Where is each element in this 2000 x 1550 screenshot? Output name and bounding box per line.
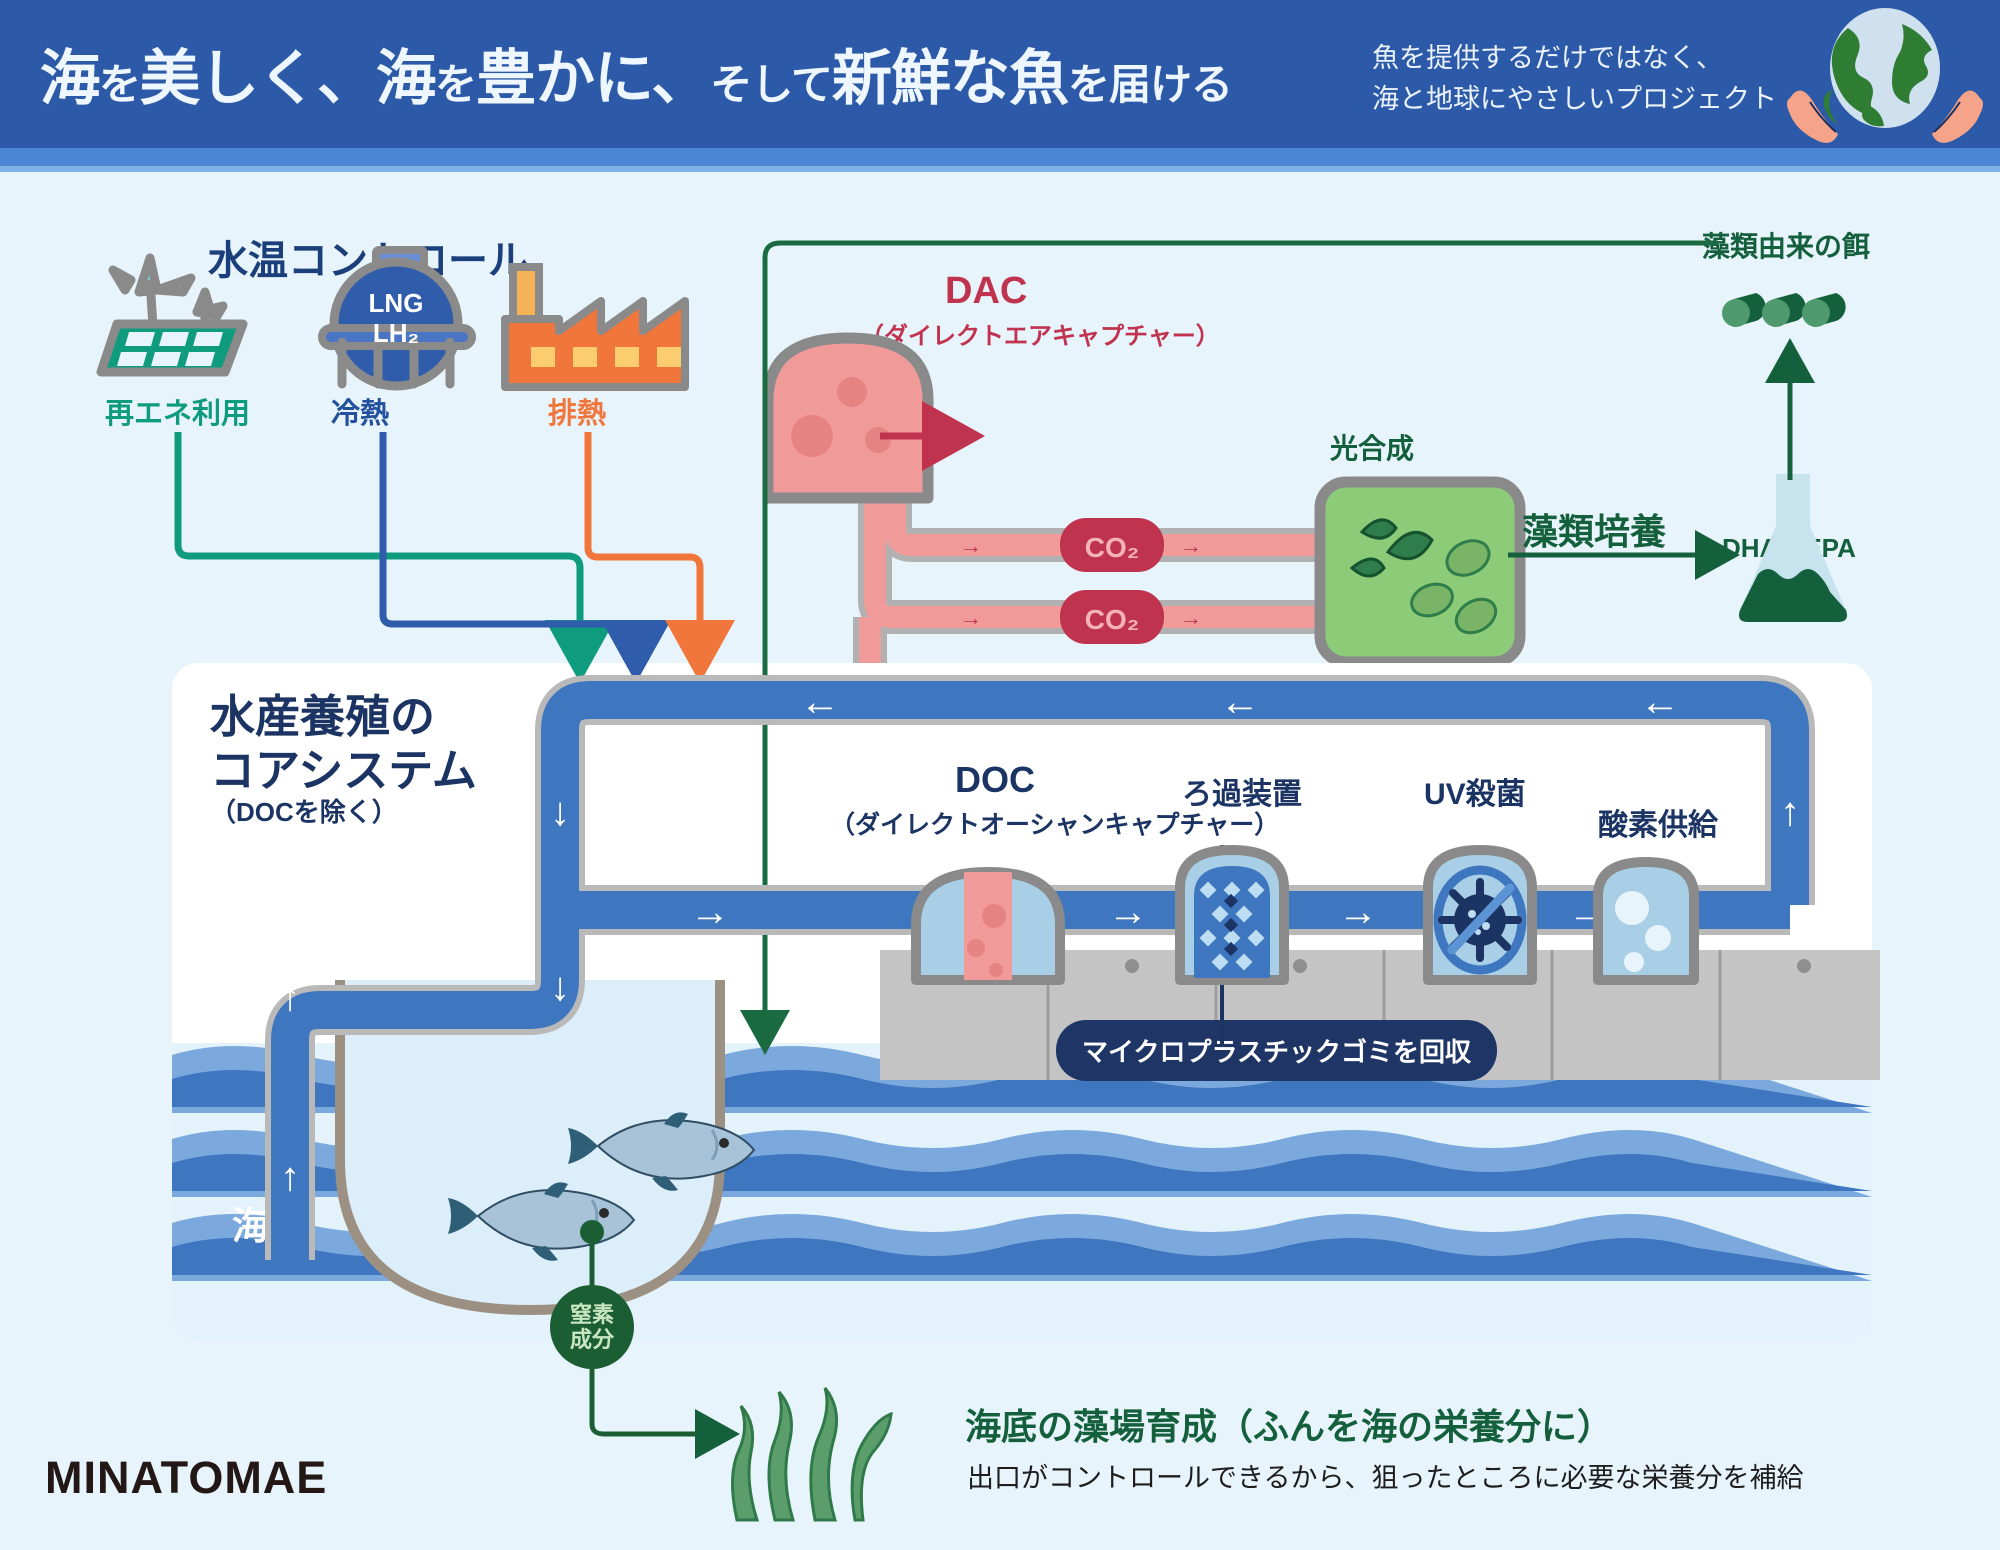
- svg-text:→: →: [960, 533, 982, 558]
- wind-turbine-solar-panel-icon: [95, 240, 285, 390]
- title-seg-3: 美しく、海: [140, 45, 435, 112]
- svg-text:LNG: LNG: [369, 288, 424, 318]
- title-seg-7: 新鮮な魚: [832, 45, 1068, 112]
- svg-text:CO₂: CO₂: [1085, 532, 1139, 563]
- svg-text:→: →: [1180, 533, 1202, 558]
- source-label-waste-heat: 排熱: [548, 390, 606, 432]
- microplastic-badge: マイクロプラスチックゴミを回収: [1056, 1020, 1497, 1081]
- filter-unit-label: ろ過装置: [1182, 769, 1302, 813]
- source-label-renewable: 再エネ利用: [105, 390, 250, 432]
- algae-cells-icon: [1320, 482, 1520, 662]
- algae-derived-feed-label: 藻類由来の餌: [1702, 225, 1870, 265]
- header-subtitle-line2: 海と地球にやさしいプロジェクト: [1372, 79, 1777, 120]
- photosynthesis-label: 光合成: [1330, 427, 1414, 467]
- bottom-description: 出口がコントロールできるから、狙ったところに必要な栄養分を補給: [967, 1456, 1803, 1495]
- header-subtitle-line1: 魚を提供するだけではなく、: [1372, 38, 1777, 79]
- infographic-canvas: 海を美しく、海を豊かに、そして新鮮な魚を届ける 魚を提供するだけではなく、 海と…: [0, 0, 2000, 1550]
- header-underline: [0, 148, 2000, 166]
- title-seg-1: 海: [40, 45, 99, 112]
- title-seg-5: 豊かに、: [476, 45, 710, 112]
- nitrogen-badge: 窒素 成分: [550, 1285, 634, 1369]
- uv-unit-label: UV殺菌: [1424, 769, 1526, 813]
- core-system-title-line2: コアシステム: [210, 734, 477, 799]
- cold-energy-connector: [383, 432, 636, 648]
- renewable-energy-connector: [178, 432, 580, 648]
- svg-text:→: →: [1180, 605, 1202, 630]
- svg-text:LH₂: LH₂: [373, 318, 419, 348]
- header-subtitle: 魚を提供するだけではなく、 海と地球にやさしいプロジェクト: [1372, 38, 1777, 119]
- title-seg-6: そして: [710, 61, 832, 108]
- algae-culture-label: 藻類培養: [1522, 503, 1666, 555]
- nitrogen-line1: 窒素: [570, 1302, 614, 1327]
- svg-text:CO₂: CO₂: [1085, 604, 1139, 635]
- title-seg-2: を: [99, 61, 140, 108]
- header-underline-light: [0, 166, 2000, 172]
- feed-pellet-icon: [1722, 285, 1862, 345]
- title-seg-4: を: [435, 61, 476, 108]
- erlenmeyer-flask-icon: [1718, 470, 1868, 630]
- core-system-title-note: （DOCを除く）: [210, 792, 398, 829]
- nitrogen-line2: 成分: [570, 1327, 614, 1352]
- seawater-label: 海水: [232, 1195, 308, 1250]
- lng-tank-icon: LNG LH₂: [300, 238, 490, 398]
- source-label-cold-energy: 冷熱: [331, 390, 389, 432]
- globe-in-hands-icon: [1770, 6, 2000, 156]
- brand-logo: MINATOMAE: [45, 1452, 327, 1504]
- dac-dome-icon: [768, 338, 928, 498]
- oxygen-unit-label: 酸素供給: [1598, 800, 1718, 844]
- seaweed-icon: [715, 1382, 935, 1522]
- doc-title: DOC: [955, 759, 1035, 801]
- page-title: 海を美しく、海を豊かに、そして新鮮な魚を届ける: [40, 30, 1232, 117]
- bottom-heading: 海底の藻場育成（ふんを海の栄養分に）: [965, 1398, 1613, 1450]
- title-seg-8: を届ける: [1068, 61, 1232, 108]
- svg-text:→: →: [960, 605, 982, 630]
